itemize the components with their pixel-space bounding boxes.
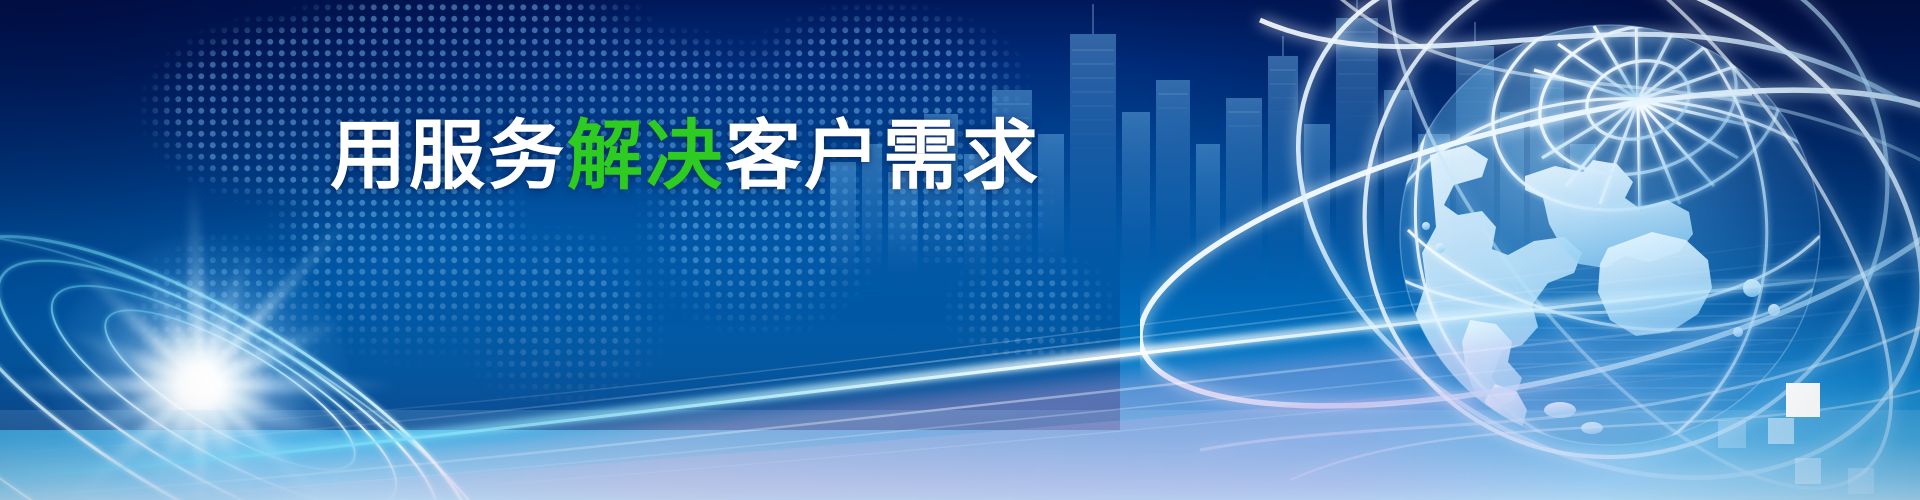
floating-square: [1795, 458, 1821, 484]
corner-shading: [0, 0, 1920, 500]
floating-square: [1848, 468, 1874, 494]
floating-squares: [0, 0, 1920, 500]
dot-map-fade: [0, 0, 1120, 430]
banner-root: 用服务解决客户需求: [0, 0, 1920, 500]
headline-segment-primary-2: 客户需求: [725, 111, 1041, 200]
floating-square: [1718, 420, 1746, 448]
starburst-core: [50, 235, 350, 500]
floating-square: [1786, 383, 1820, 417]
headline-segment-primary-1: 用服务: [330, 111, 567, 200]
orbit-rings: [0, 190, 580, 500]
headline-segment-accent: 解决: [567, 111, 725, 200]
banner-headline: 用服务解决客户需求: [330, 118, 1090, 194]
vignette-overlay: [0, 0, 1920, 500]
dotted-world-map: [0, 0, 1120, 420]
floating-square: [1768, 418, 1794, 444]
dot-map-mask: [0, 0, 1120, 430]
light-streaks: [0, 240, 1920, 500]
wireframe-earth-globe: [1140, 0, 1920, 500]
dot-map-field: [0, 0, 1120, 430]
